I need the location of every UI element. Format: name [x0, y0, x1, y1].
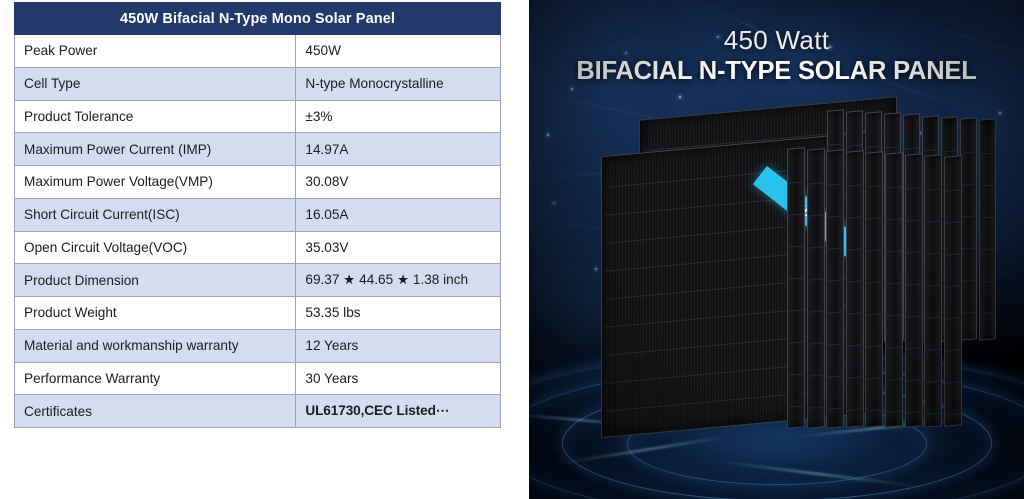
spec-label: Peak Power: [15, 35, 296, 68]
star: [999, 112, 1001, 114]
solar-panel-slice: [865, 151, 883, 428]
table-row: Peak Power450W: [15, 35, 501, 68]
product-hero-image: 450 Watt BIFACIAL N-TYPE SOLAR PANEL 450…: [529, 0, 1024, 499]
spec-label: Short Circuit Current(ISC): [15, 198, 296, 231]
spec-label: Material and workmanship warranty: [15, 329, 296, 362]
spec-label: Product Weight: [15, 297, 296, 330]
solar-panel-array: 450W: [591, 108, 991, 448]
table-row: Open Circuit Voltage(VOC)35.03V: [15, 231, 501, 264]
spec-label: Maximum Power Voltage(VMP): [15, 166, 296, 199]
table-title: 450W Bifacial N-Type Mono Solar Panel: [15, 3, 501, 35]
spec-label: Performance Warranty: [15, 362, 296, 395]
hero-title-block: 450 Watt BIFACIAL N-TYPE SOLAR PANEL: [529, 26, 1024, 86]
star: [679, 96, 681, 98]
spec-label: Cell Type: [15, 67, 296, 100]
spec-value: 35.03V: [296, 231, 501, 264]
solar-panel-slice: [924, 154, 942, 427]
spec-label: Certificates: [15, 395, 296, 428]
specification-rows: Peak Power450WCell TypeN-type Monocrysta…: [15, 35, 501, 428]
solar-panel-slice: [960, 117, 977, 341]
solar-panel-slice: [846, 150, 864, 428]
star: [547, 134, 549, 136]
floor-light-streak: [720, 461, 919, 487]
spec-value: 30.08V: [296, 166, 501, 199]
hero-wattage-label: 450 Watt: [529, 26, 1024, 55]
specification-panel: 450W Bifacial N-Type Mono Solar Panel Pe…: [14, 2, 501, 428]
spec-value: UL61730,CEC Listed⋯: [296, 395, 501, 428]
solar-panel-slice: [826, 149, 844, 428]
solar-panel-slice: [944, 155, 962, 427]
spec-label: Maximum Power Current (IMP): [15, 133, 296, 166]
table-header-row: 450W Bifacial N-Type Mono Solar Panel: [15, 3, 501, 35]
spec-label: Product Tolerance: [15, 100, 296, 133]
solar-panel-slice: [885, 152, 903, 428]
spec-value: 53.35 lbs: [296, 297, 501, 330]
spec-value: 16.05A: [296, 198, 501, 231]
table-row: CertificatesUL61730,CEC Listed⋯: [15, 395, 501, 428]
table-row: Performance Warranty30 Years: [15, 362, 501, 395]
spec-label: Product Dimension: [15, 264, 296, 297]
table-row: Maximum Power Current (IMP)14.97A: [15, 133, 501, 166]
star: [553, 202, 555, 204]
specification-table: 450W Bifacial N-Type Mono Solar Panel Pe…: [14, 2, 501, 428]
spec-value: 30 Years: [296, 362, 501, 395]
solar-panel-slice: [807, 148, 825, 428]
table-row: Product Tolerance±3%: [15, 100, 501, 133]
hero-headline: BIFACIAL N-TYPE SOLAR PANEL: [529, 57, 1024, 86]
spec-value: N-type Monocrystalline: [296, 67, 501, 100]
table-row: Product Weight53.35 lbs: [15, 297, 501, 330]
solar-panel-slice: [905, 153, 923, 427]
table-row: Cell TypeN-type Monocrystalline: [15, 67, 501, 100]
table-row: Maximum Power Voltage(VMP)30.08V: [15, 166, 501, 199]
solar-panel-slice: [787, 147, 805, 429]
table-row: Product Dimension69.37 ★ 44.65 ★ 1.38 in…: [15, 264, 501, 297]
spec-value: 450W: [296, 35, 501, 68]
spec-value: 12 Years: [296, 329, 501, 362]
table-row: Short Circuit Current(ISC)16.05A: [15, 198, 501, 231]
spec-value: 69.37 ★ 44.65 ★ 1.38 inch: [296, 264, 501, 297]
table-row: Material and workmanship warranty12 Year…: [15, 329, 501, 362]
solar-panel-slice: [979, 118, 996, 340]
star: [571, 88, 573, 90]
spec-value: ±3%: [296, 100, 501, 133]
spec-value: 14.97A: [296, 133, 501, 166]
spec-label: Open Circuit Voltage(VOC): [15, 231, 296, 264]
product-spec-banner: 450W Bifacial N-Type Mono Solar Panel Pe…: [0, 0, 1024, 499]
